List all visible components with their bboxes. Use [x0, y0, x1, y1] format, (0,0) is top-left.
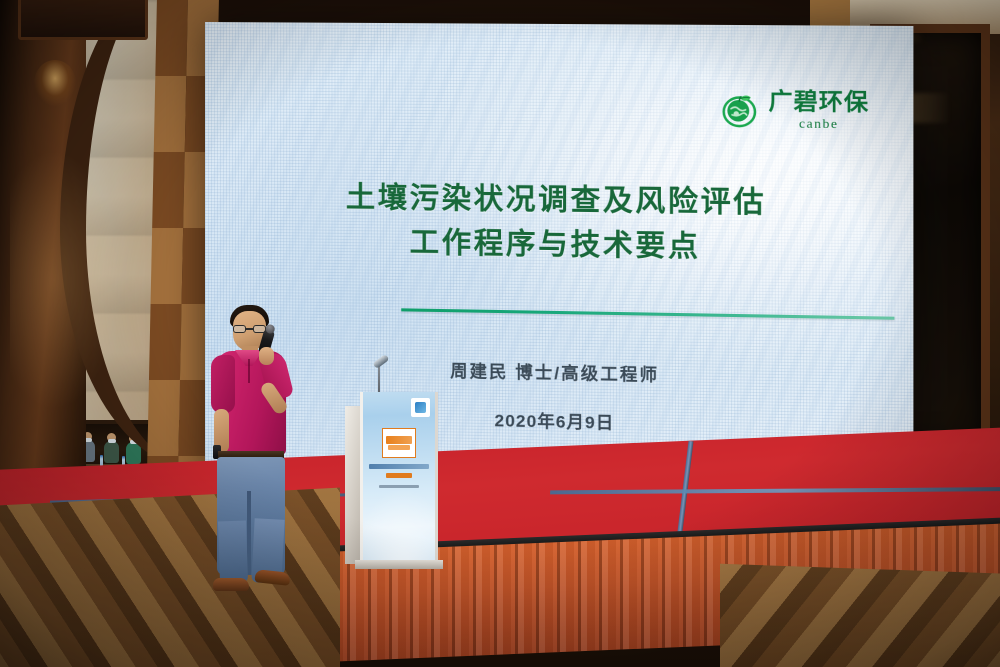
mosaic-tile — [152, 190, 184, 228]
globe-leaf-icon — [720, 88, 762, 129]
podium — [345, 392, 453, 564]
presenter-left-sleeve — [211, 355, 235, 413]
presenter-left-shoe — [213, 578, 249, 591]
conference-photo: 广碧环保 canbe 土壤污染状况调查及风险评估 工作程序与技术要点 周建民 博… — [0, 0, 1000, 667]
mosaic-tile — [154, 114, 186, 152]
floor-carpet-right — [720, 564, 1000, 667]
presenter-right-shoe — [254, 569, 290, 586]
logo-chinese-name: 广碧环保 — [769, 89, 870, 113]
mosaic-tile — [151, 266, 183, 304]
podium-event-detail-text — [379, 485, 419, 488]
slide-title-line-2: 工作程序与技术要点 — [205, 218, 913, 273]
audience-person — [104, 441, 119, 463]
presenter-shirt-placket — [248, 359, 250, 383]
podium-event-badge — [382, 428, 416, 458]
slide-title: 土壤污染状况调查及风险评估 工作程序与技术要点 — [205, 174, 913, 273]
podium-event-subtitle-text — [386, 473, 412, 478]
mosaic-tile — [147, 418, 179, 456]
eyeglasses-icon — [233, 325, 266, 333]
stage-seam — [550, 487, 1000, 494]
podium-base — [355, 560, 443, 569]
ambient-glow-left — [10, 150, 120, 410]
face-mask-icon — [108, 439, 116, 443]
mosaic-tile — [151, 228, 183, 266]
mosaic-tile — [148, 380, 180, 418]
mosaic-tile — [149, 342, 181, 380]
podium-event-title-text — [369, 464, 429, 469]
presenter-right-hand — [259, 347, 274, 365]
logo-english-name: canbe — [799, 116, 839, 130]
podium-front-panel — [360, 392, 438, 564]
mosaic-tile — [155, 76, 187, 114]
mosaic-tile — [150, 304, 182, 342]
presenter — [205, 303, 315, 603]
wall-frame-top-left — [18, 0, 148, 40]
mosaic-tile — [153, 152, 185, 190]
slide-divider-line — [401, 308, 894, 319]
podium-logo-icon — [411, 398, 430, 417]
logo-text: 广碧环保 canbe — [769, 89, 870, 130]
mosaic-tile — [156, 0, 188, 38]
presenter-left-leg — [218, 521, 248, 584]
mosaic-tile — [155, 38, 187, 76]
chandelier-light — [34, 60, 76, 106]
company-logo: 广碧环保 canbe — [720, 88, 870, 130]
